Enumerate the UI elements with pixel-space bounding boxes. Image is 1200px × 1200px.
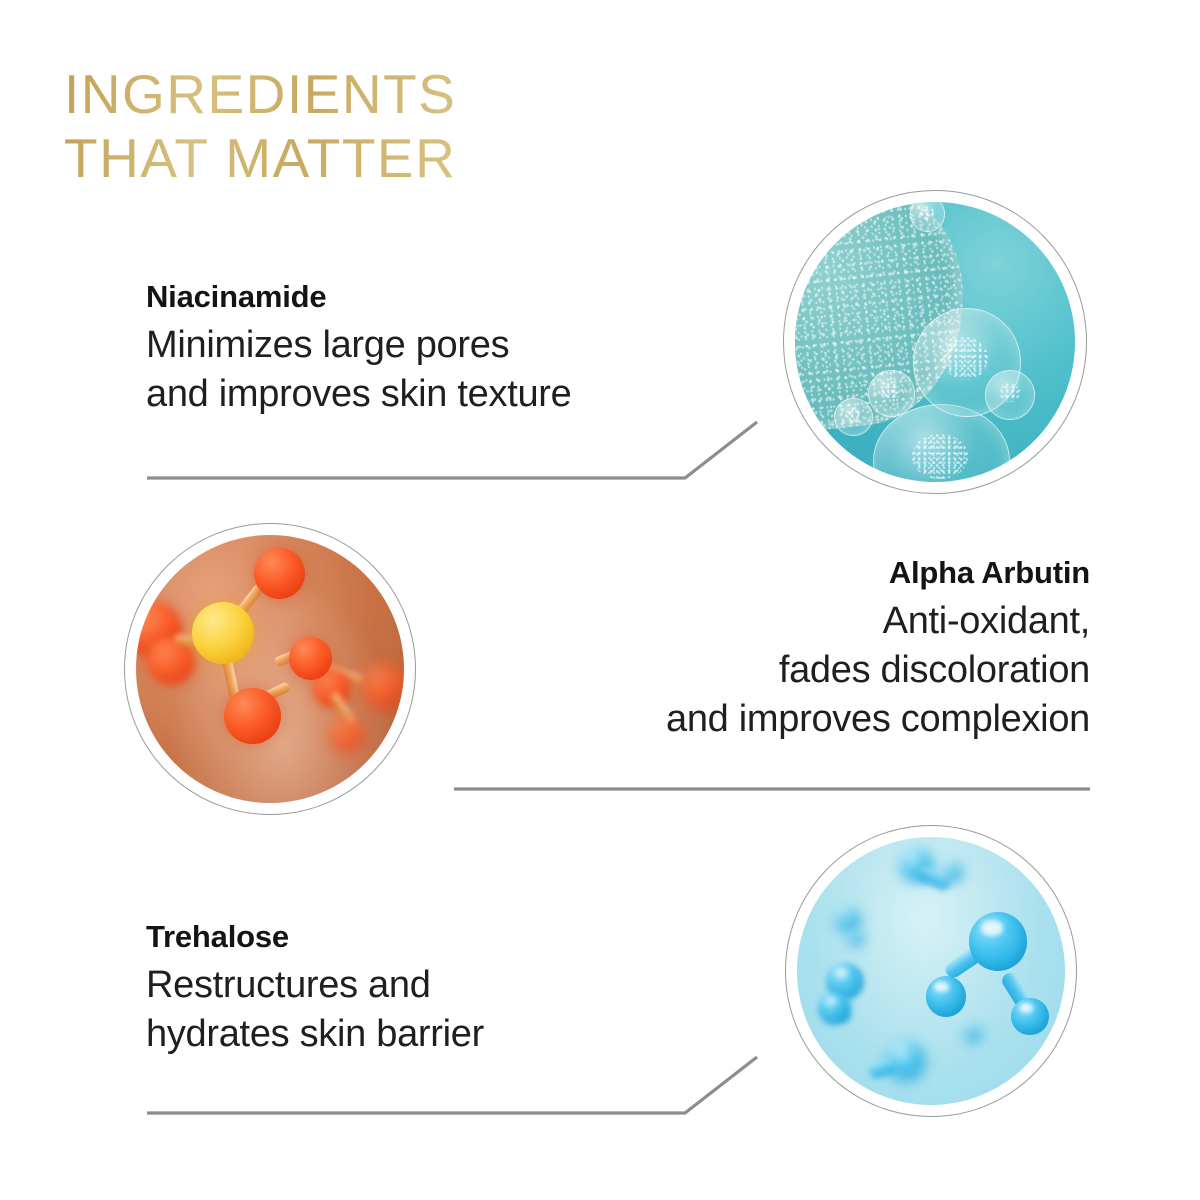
atom-sphere — [361, 664, 404, 710]
ingredient-description-trehalose: Restructures and hydrates skin barrier — [146, 961, 706, 1059]
bubble — [985, 370, 1035, 420]
ingredient-image-trehalose — [785, 825, 1077, 1117]
molecule-sphere — [926, 976, 966, 1016]
molecule-sphere — [942, 861, 963, 882]
ingredient-name-alpha-arbutin: Alpha Arbutin — [410, 553, 1090, 593]
molecule-sphere — [848, 931, 864, 947]
molecule-sphere — [969, 912, 1028, 971]
atom-sphere — [329, 717, 364, 752]
orange-molecule-circle — [136, 535, 404, 803]
molecule-sphere — [818, 992, 850, 1024]
bubble — [834, 398, 872, 436]
leader-line-trehalose — [140, 1050, 800, 1130]
molecule-sphere — [963, 1025, 982, 1044]
ingredient-image-alpha-arbutin — [124, 523, 416, 815]
ingredient-image-niacinamide — [783, 190, 1087, 494]
ingredient-name-trehalose: Trehalose — [146, 917, 706, 957]
ingredients-infographic: INGREDIENTS THAT MATTER Niacinamide Mini… — [0, 0, 1200, 1200]
leader-line-alpha-arbutin — [452, 776, 1098, 796]
atom-sphere-yellow — [192, 602, 254, 664]
ingredient-description-alpha-arbutin: Anti-oxidant, fades discoloration and im… — [410, 597, 1090, 744]
ingredient-block-trehalose: Trehalose Restructures and hydrates skin… — [146, 917, 706, 1059]
ingredient-block-niacinamide: Niacinamide Minimizes large pores and im… — [146, 277, 746, 419]
teal-bubbles-circle — [795, 202, 1075, 482]
ingredient-description-niacinamide: Minimizes large pores and improves skin … — [146, 321, 746, 419]
atom-sphere — [289, 637, 332, 680]
molecule-sphere — [1011, 998, 1049, 1036]
blue-molecule-circle — [797, 837, 1065, 1105]
atom-sphere — [254, 548, 305, 599]
molecule-sphere — [835, 907, 862, 934]
ingredient-block-alpha-arbutin: Alpha Arbutin Anti-oxidant, fades discol… — [410, 553, 1090, 744]
ingredient-name-niacinamide: Niacinamide — [146, 277, 746, 317]
atom-sphere — [224, 688, 280, 744]
bubble — [868, 370, 915, 417]
leader-line-niacinamide — [140, 415, 800, 495]
page-title: INGREDIENTS THAT MATTER — [64, 62, 456, 190]
